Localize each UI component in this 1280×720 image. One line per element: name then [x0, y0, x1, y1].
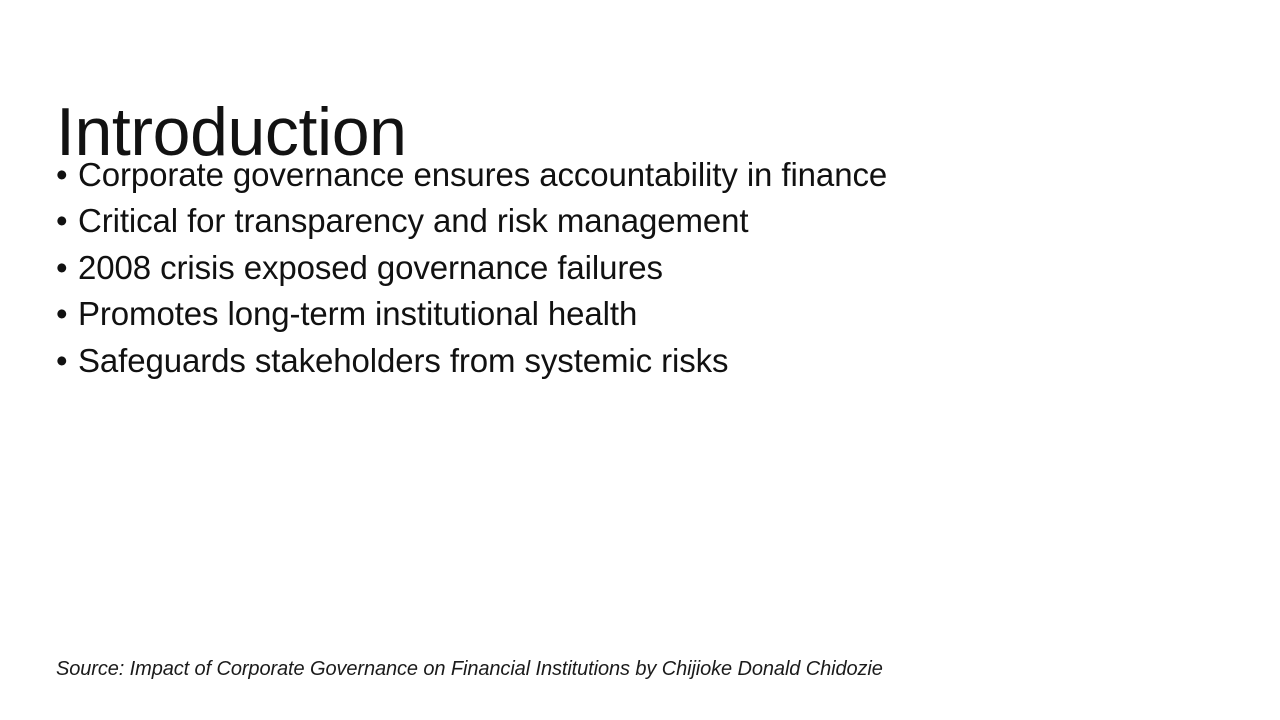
bullet-dot-icon: •: [56, 338, 78, 384]
list-item: • Corporate governance ensures accountab…: [56, 152, 1206, 198]
list-item: • Critical for transparency and risk man…: [56, 198, 1206, 244]
list-item: • 2008 crisis exposed governance failure…: [56, 245, 1206, 291]
bullet-list: • Corporate governance ensures accountab…: [56, 152, 1206, 384]
list-item-label: Critical for transparency and risk manag…: [78, 198, 748, 244]
bullet-dot-icon: •: [56, 152, 78, 198]
list-item-label: Promotes long-term institutional health: [78, 291, 637, 337]
bullet-dot-icon: •: [56, 245, 78, 291]
source-citation: Source: Impact of Corporate Governance o…: [56, 655, 883, 683]
list-item: • Promotes long-term institutional healt…: [56, 291, 1206, 337]
list-item-label: 2008 crisis exposed governance failures: [78, 245, 663, 291]
list-item-label: Corporate governance ensures accountabil…: [78, 152, 887, 198]
presentation-slide: Introduction • Corporate governance ensu…: [0, 0, 1280, 720]
bullet-dot-icon: •: [56, 198, 78, 244]
list-item: • Safeguards stakeholders from systemic …: [56, 338, 1206, 384]
bullet-dot-icon: •: [56, 291, 78, 337]
list-item-label: Safeguards stakeholders from systemic ri…: [78, 338, 728, 384]
